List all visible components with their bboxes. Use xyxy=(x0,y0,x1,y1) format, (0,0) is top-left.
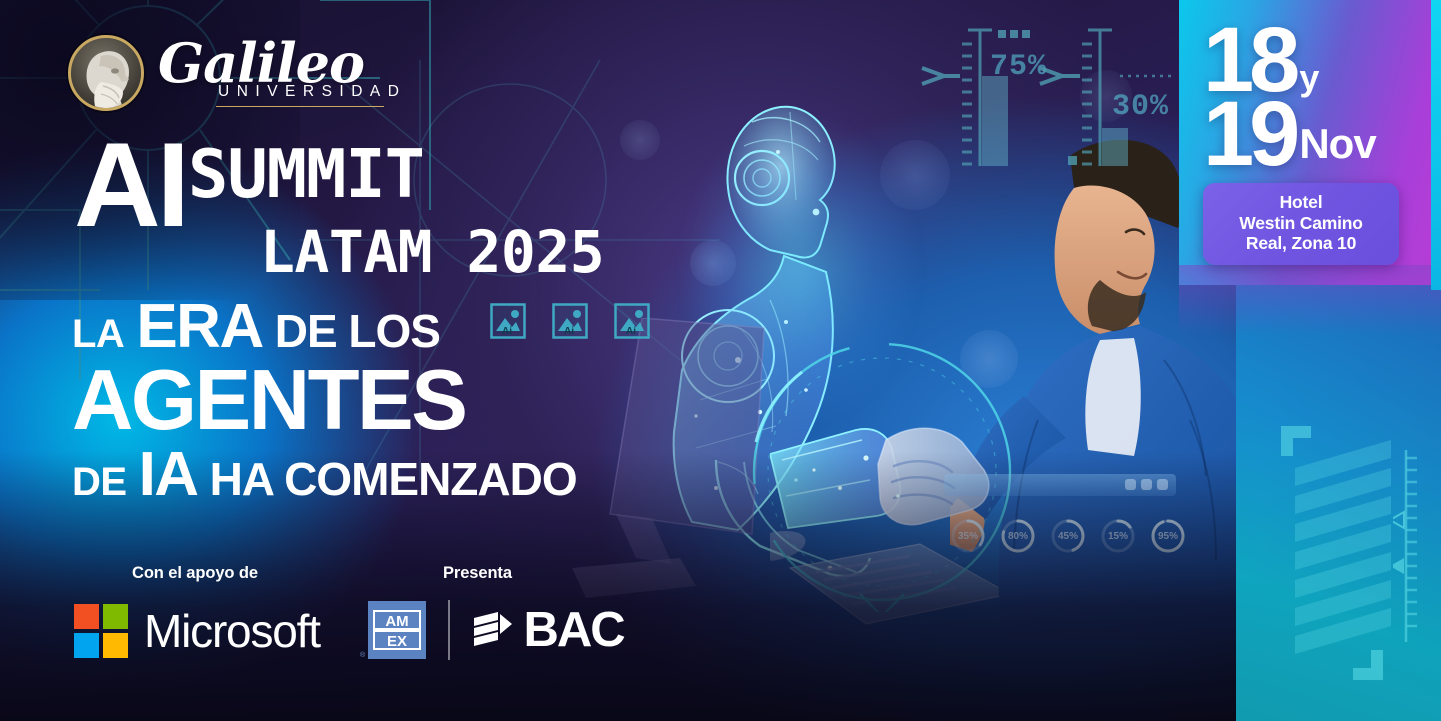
ai-image-placeholder-icon: Ai xyxy=(614,303,650,339)
event-title: AI SUMMIT LATAM 2025 xyxy=(74,136,604,286)
galileo-wordmark: Galileo UNIVERSIDAD xyxy=(158,39,406,107)
svg-text:EX: EX xyxy=(387,633,407,650)
galileo-rule xyxy=(216,106,384,108)
svg-text:Ai: Ai xyxy=(626,326,636,337)
amex-logo[interactable]: ® AM EX xyxy=(368,601,426,659)
tagline-de: DE xyxy=(72,462,127,502)
ruler-scale-decoration xyxy=(1393,446,1419,646)
event-tagline: LA ERA DE LOS AGENTES DE IA HA COMENZADO xyxy=(72,296,577,506)
tagline-la: LA xyxy=(72,314,124,354)
microsoft-wordmark: Microsoft xyxy=(144,608,320,654)
presenter-caption: Presenta xyxy=(443,564,512,583)
event-banner: 35% 80% 45% 15% 95% xyxy=(0,0,1441,721)
corner-bracket-icon xyxy=(1351,648,1385,682)
right-cyan-strip xyxy=(1431,0,1441,290)
title-latam-year: LATAM 2025 xyxy=(260,218,604,286)
svg-text:AM: AM xyxy=(385,613,408,630)
date-day-19: 19 xyxy=(1203,98,1295,172)
date-conjunction: y xyxy=(1299,60,1319,96)
venue-line-1: Hotel xyxy=(1209,192,1393,213)
venue-line-2: Westin Camino xyxy=(1209,213,1393,234)
galileo-name: Galileo xyxy=(158,39,406,89)
corner-bracket-icon xyxy=(1279,424,1313,458)
tagline-line-2: AGENTES xyxy=(72,360,577,442)
sponsors-section: Con el apoyo de Presenta Microsoft ® AM … xyxy=(0,556,640,686)
tagline-ha-comenzado: HA COMENZADO xyxy=(210,456,577,502)
hud-gauge-right: 30% xyxy=(1030,14,1180,174)
microsoft-squares-icon xyxy=(74,604,128,658)
galileo-universidad-logo[interactable]: Galileo UNIVERSIDAD xyxy=(68,35,406,111)
logo-divider xyxy=(448,600,450,660)
date-row-second: 19 Nov xyxy=(1203,98,1413,172)
bac-mark-icon xyxy=(472,610,514,650)
bac-wordmark: BAC xyxy=(524,606,624,655)
support-caption: Con el apoyo de xyxy=(132,564,258,583)
microsoft-logo[interactable]: Microsoft xyxy=(74,604,320,658)
tagline-agentes: AGENTES xyxy=(72,360,465,442)
venue-badge[interactable]: Hotel Westin Camino Real, Zona 10 xyxy=(1203,183,1399,265)
event-date-panel: 18 y 19 Nov Hotel Westin Camino Real, Zo… xyxy=(1203,24,1413,265)
amex-registered-mark: ® xyxy=(360,652,365,659)
tagline-era: ERA xyxy=(136,296,262,358)
tagline-de-los: DE LOS xyxy=(275,308,440,354)
galileo-bust-portrait-icon xyxy=(71,38,144,111)
venue-line-3: Real, Zona 10 xyxy=(1209,233,1393,254)
presenter-logos: ® AM EX BAC xyxy=(368,600,624,660)
hud-gauge-right-value: 30% xyxy=(1112,90,1169,124)
galileo-bust-medallion-icon xyxy=(68,35,144,111)
tagline-line-3: DE IA HA COMENZADO xyxy=(72,444,577,506)
title-summit: SUMMIT xyxy=(188,144,424,206)
tagline-ia: IA xyxy=(139,444,198,506)
galileo-subtitle: UNIVERSIDAD xyxy=(218,83,406,101)
date-panel-fade xyxy=(1179,265,1441,335)
tagline-line-1: LA ERA DE LOS xyxy=(72,296,577,358)
amex-mark-icon: AM EX xyxy=(368,601,426,659)
title-ai: AI xyxy=(74,136,186,234)
date-month: Nov xyxy=(1299,123,1375,165)
diagonal-stripes-decoration xyxy=(1295,430,1405,670)
